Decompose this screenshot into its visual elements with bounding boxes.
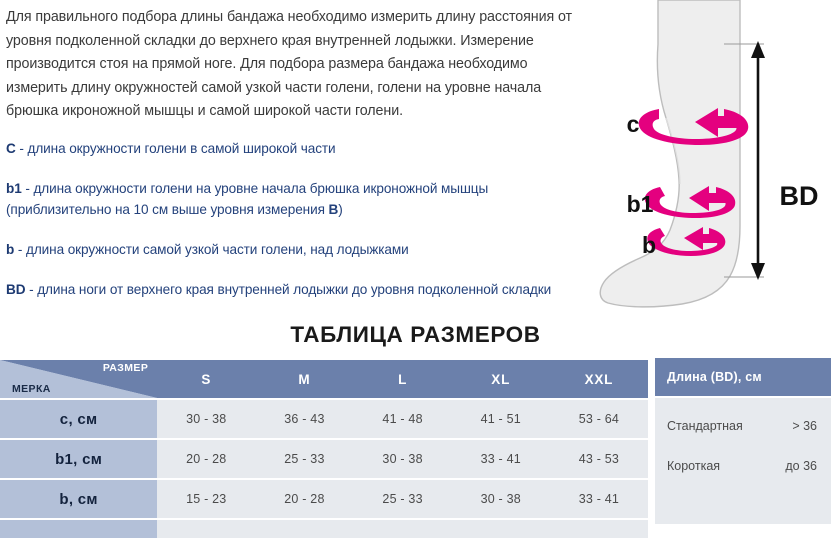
cell-b-xl: 30 - 38 [452,480,550,518]
cell-b1-xxl: 43 - 53 [550,440,648,478]
size-header-xl: XL [452,360,550,398]
definition-b-text: - длина окружности самой узкой части гол… [14,242,408,257]
tables-area: РАЗМЕР МЕРКА S M L XL XXL c, см 30 - 38 … [0,358,831,526]
diagram-label-b1: b1 [627,191,654,217]
size-header-m: M [255,360,353,398]
cell-b1-l: 30 - 38 [354,440,452,478]
definition-b-key: b [6,242,14,257]
bd-table-body: Стандартная > 36 Короткая до 36 [655,398,831,524]
cell-b-xxl: 33 - 41 [550,480,648,518]
definition-c-key: C [6,141,16,156]
spacer-data-cell [452,520,550,538]
bd-row-standard: Стандартная > 36 [655,406,831,446]
size-header-l: L [354,360,452,398]
row-label-b: b, см [0,480,157,518]
bd-row-standard-value: > 36 [792,419,817,433]
diagram-label-b: b [642,232,656,258]
definition-bd-key: BD [6,282,25,297]
bd-measure-arrow-icon [751,41,765,280]
leg-measurement-diagram: c b1 b BD [596,0,831,318]
size-table-head: РАЗМЕР МЕРКА S M L XL XXL [0,360,648,398]
cell-c-m: 36 - 43 [255,400,353,438]
definition-b1-key: b1 [6,181,22,196]
size-header-s: S [157,360,255,398]
leg-silhouette-icon [600,0,740,307]
row-label-b1: b1, см [0,440,157,478]
definition-b1-text: - длина окружности голени на уровне нача… [6,181,488,217]
cell-c-xl: 41 - 51 [452,400,550,438]
spacer-data-cell [550,520,648,538]
definition-b1-inline-key: B [329,202,339,217]
definition-bd-text: - длина ноги от верхнего края внутренней… [25,282,551,297]
size-table-header-row: РАЗМЕР МЕРКА S M L XL XXL [0,360,648,398]
intro-paragraph: Для правильного подбора длины бандажа не… [6,6,592,124]
definition-b1-tail: ) [338,202,342,217]
cell-b-m: 20 - 28 [255,480,353,518]
table-row: b, см 15 - 23 20 - 28 25 - 33 30 - 38 33… [0,480,648,518]
cell-c-l: 41 - 48 [354,400,452,438]
top-info-section: Для правильного подбора длины бандажа не… [0,0,831,318]
bd-row-short-value: до 36 [785,459,817,473]
size-table: РАЗМЕР МЕРКА S M L XL XXL c, см 30 - 38 … [0,358,648,540]
size-table-title: ТАБЛИЦА РАЗМЕРОВ [0,322,831,348]
diagram-label-c: c [627,111,640,137]
cell-b1-xl: 33 - 41 [452,440,550,478]
text-column: Для правильного подбора длины бандажа не… [6,6,592,319]
spacer-data-cell [157,520,255,538]
cell-b-s: 15 - 23 [157,480,255,518]
spacer-label-cell [0,520,157,538]
table-row: b1, см 20 - 28 25 - 33 30 - 38 33 - 41 4… [0,440,648,478]
definition-b: b - длина окружности самой узкой части г… [6,239,592,260]
bd-row-short-name: Короткая [667,459,720,473]
cell-b1-s: 20 - 28 [157,440,255,478]
row-label-c: c, см [0,400,157,438]
cell-c-xxl: 53 - 64 [550,400,648,438]
diagram-label-bd: BD [780,181,819,211]
cell-c-s: 30 - 38 [157,400,255,438]
bd-row-standard-name: Стандартная [667,419,743,433]
corner-size-label: РАЗМЕР [103,362,148,374]
cell-b1-m: 25 - 33 [255,440,353,478]
table-corner-header: РАЗМЕР МЕРКА [0,360,157,398]
corner-measure-label: МЕРКА [12,383,51,395]
spacer-data-cell [354,520,452,538]
bd-length-table: Длина (BD), см Стандартная > 36 Короткая… [655,358,831,524]
bd-row-short: Короткая до 36 [655,446,831,486]
definition-c-text: - длина окружности голени в самой широко… [16,141,336,156]
spacer-data-cell [255,520,353,538]
bd-table-header: Длина (BD), см [655,358,831,396]
table-bottom-spacer-row [0,520,648,538]
cell-b-l: 25 - 33 [354,480,452,518]
definition-bd: BD - длина ноги от верхнего края внутрен… [6,279,592,300]
size-table-body: c, см 30 - 38 36 - 43 41 - 48 41 - 51 53… [0,400,648,538]
definition-c: C - длина окружности голени в самой широ… [6,138,592,159]
table-row: c, см 30 - 38 36 - 43 41 - 48 41 - 51 53… [0,400,648,438]
definition-b1: b1 - длина окружности голени на уровне н… [6,178,592,220]
size-header-xxl: XXL [550,360,648,398]
leg-diagram-svg: c b1 b BD [596,0,831,318]
